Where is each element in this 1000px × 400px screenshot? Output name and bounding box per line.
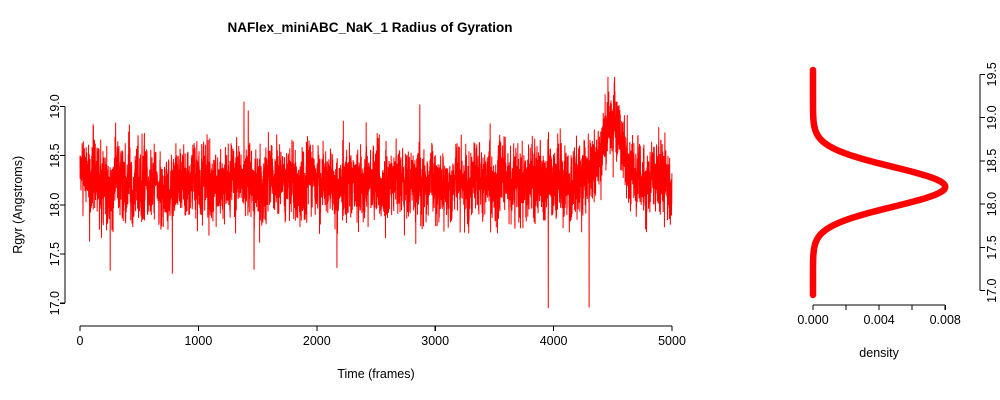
density-x-axis-tick-label: 0.008 [930, 313, 961, 327]
y-axis-tick-label: 18.5 [48, 143, 62, 167]
y-axis-tick-label: 18.0 [48, 193, 62, 217]
density-x-axis-title: density [859, 346, 899, 360]
density-y-axis-tick-label: 19.0 [985, 105, 999, 129]
x-axis-tick-label: 5000 [658, 334, 686, 348]
x-axis-tick-label: 4000 [540, 334, 568, 348]
density-y-axis-tick-label: 19.5 [985, 62, 999, 86]
density-y-axis-tick-label: 18.5 [985, 149, 999, 173]
y-axis-title: Rgyr (Angstroms) [11, 156, 25, 254]
y-axis-tick-label: 17.5 [48, 242, 62, 266]
density-x-axis-tick-label: 0.000 [797, 313, 828, 327]
timeseries-trace [80, 77, 672, 308]
timeseries-svg: 17.017.518.018.519.0Rgyr (Angstroms)0100… [0, 0, 740, 400]
density-svg: 17.017.518.018.519.019.50.0000.0040.008d… [740, 0, 1000, 400]
y-axis-tick-label: 17.0 [48, 291, 62, 315]
density-y-axis-tick-label: 18.0 [985, 192, 999, 216]
y-axis-tick-label: 19.0 [48, 94, 62, 118]
density-y-axis-tick-label: 17.0 [985, 278, 999, 302]
density-y-axis-tick-label: 17.5 [985, 235, 999, 259]
x-axis-tick-label: 2000 [303, 334, 331, 348]
timeseries-panel: 17.017.518.018.519.0Rgyr (Angstroms)0100… [0, 0, 740, 400]
x-axis-tick-label: 3000 [421, 334, 449, 348]
density-x-axis-tick-label: 0.004 [863, 313, 894, 327]
x-axis-title: Time (frames) [337, 367, 414, 381]
plot-page: NAFlex_miniABC_NaK_1 Radius of Gyration … [0, 0, 1000, 400]
density-curve [813, 70, 945, 295]
density-panel: 17.017.518.018.519.019.50.0000.0040.008d… [740, 0, 1000, 400]
x-axis-tick-label: 1000 [184, 334, 212, 348]
x-axis-tick-label: 0 [77, 334, 84, 348]
